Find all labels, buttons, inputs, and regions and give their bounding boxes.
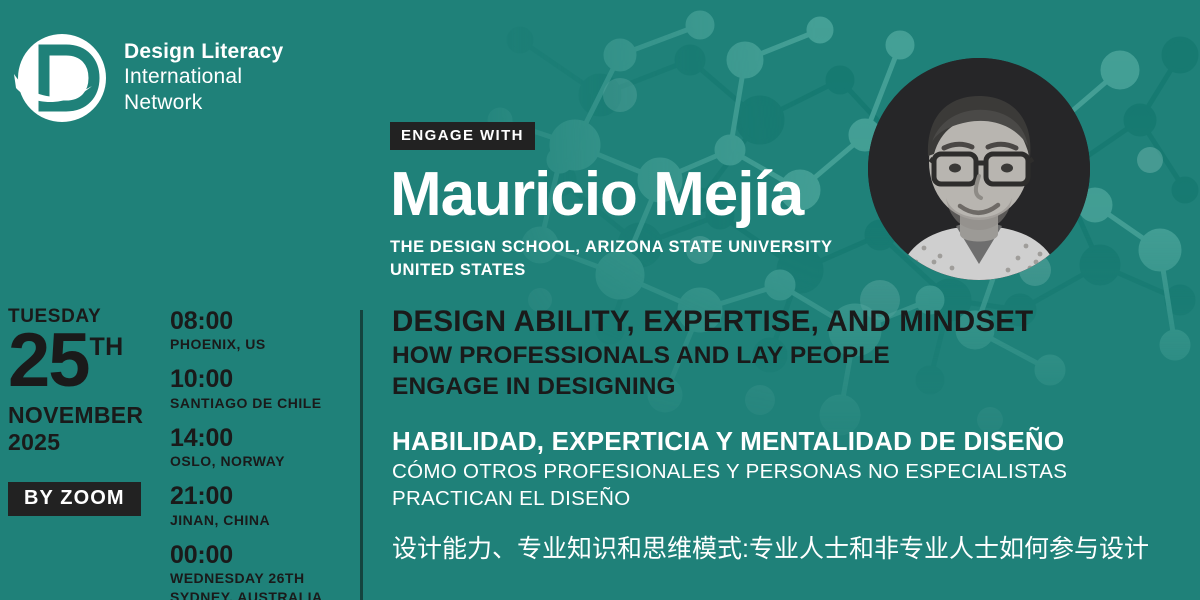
event-day-number: 25	[8, 324, 89, 398]
title-spanish-main: HABILIDAD, EXPERTICIA Y MENTALIDAD DE DI…	[392, 427, 1182, 456]
time-value: 10:00	[170, 366, 345, 392]
affiliation-line-1: THE DESIGN SCHOOL, ARIZONA STATE UNIVERS…	[390, 236, 860, 259]
time-location: SYDNEY, AUSTRALIA	[170, 588, 345, 600]
time-location: SANTIAGO DE CHILE	[170, 394, 345, 412]
time-location: JINAN, CHINA	[170, 511, 345, 529]
speaker-portrait-photo	[868, 58, 1090, 280]
event-date-block: TUESDAY 25 TH NOVEMBER 2025 BY ZOOM	[8, 306, 158, 516]
event-month: NOVEMBER	[8, 402, 158, 429]
engage-with-badge: ENGAGE WITH	[390, 122, 535, 150]
webinar-announcement-poster: Design Literacy International Network EN…	[0, 0, 1200, 600]
title-english-subtitle: HOW PROFESSIONALS AND LAY PEOPLE ENGAGE …	[392, 340, 1182, 403]
speaker-block: ENGAGE WITH Mauricio Mejía THE DESIGN SC…	[390, 122, 860, 283]
list-item: 21:00 JINAN, CHINA	[170, 483, 345, 528]
list-item: 08:00 PHOENIX, US	[170, 308, 345, 353]
title-english-main: DESIGN ABILITY, EXPERTISE, AND MINDSET	[392, 306, 1182, 338]
logo-line-1: Design Literacy	[124, 39, 283, 65]
title-spanish-sub-line-1: CÓMO OTROS PROFESIONALES Y PERSONAS NO E…	[392, 458, 1182, 485]
event-day-row: 25 TH	[8, 324, 158, 398]
logo-line-3: Network	[124, 90, 283, 116]
event-year: 2025	[8, 429, 158, 455]
title-english-sub-line-1: HOW PROFESSIONALS AND LAY PEOPLE	[392, 340, 1182, 371]
timezone-list: 08:00 PHOENIX, US 10:00 SANTIAGO DE CHIL…	[170, 308, 345, 600]
design-literacy-d-leaf-circle-logo-icon	[14, 30, 110, 126]
logo-line-2: International	[124, 64, 283, 90]
time-value: 08:00	[170, 308, 345, 334]
vertical-divider	[360, 310, 363, 600]
time-value: 14:00	[170, 425, 345, 451]
title-spanish-sub-line-2: PRACTICAN EL DISEÑO	[392, 485, 1182, 512]
list-item: 14:00 OSLO, NORWAY	[170, 425, 345, 470]
title-english-sub-line-2: ENGAGE IN DESIGNING	[392, 371, 1182, 402]
talk-titles-block: DESIGN ABILITY, EXPERTISE, AND MINDSET H…	[392, 306, 1182, 564]
organization-name: Design Literacy International Network	[124, 39, 283, 118]
time-location: OSLO, NORWAY	[170, 452, 345, 470]
list-item: 10:00 SANTIAGO DE CHILE	[170, 366, 345, 411]
by-zoom-badge: BY ZOOM	[8, 482, 141, 516]
organization-logo-block: Design Literacy International Network	[14, 30, 283, 126]
time-value: 00:00	[170, 542, 345, 568]
affiliation-line-2: UNITED STATES	[390, 259, 860, 282]
time-day-note: WEDNESDAY 26TH	[170, 569, 345, 587]
event-day-suffix: TH	[90, 333, 124, 362]
title-spanish-subtitle: CÓMO OTROS PROFESIONALES Y PERSONAS NO E…	[392, 458, 1182, 513]
list-item: 00:00 WEDNESDAY 26TH SYDNEY, AUSTRALIA	[170, 542, 345, 600]
title-chinese-main: 设计能力、专业知识和思维模式:专业人士和非专业人士如何参与设计	[392, 534, 1182, 564]
speaker-affiliation: THE DESIGN SCHOOL, ARIZONA STATE UNIVERS…	[390, 236, 860, 283]
time-location: PHOENIX, US	[170, 335, 345, 353]
time-value: 21:00	[170, 483, 345, 509]
speaker-name: Mauricio Mejía	[390, 164, 860, 226]
